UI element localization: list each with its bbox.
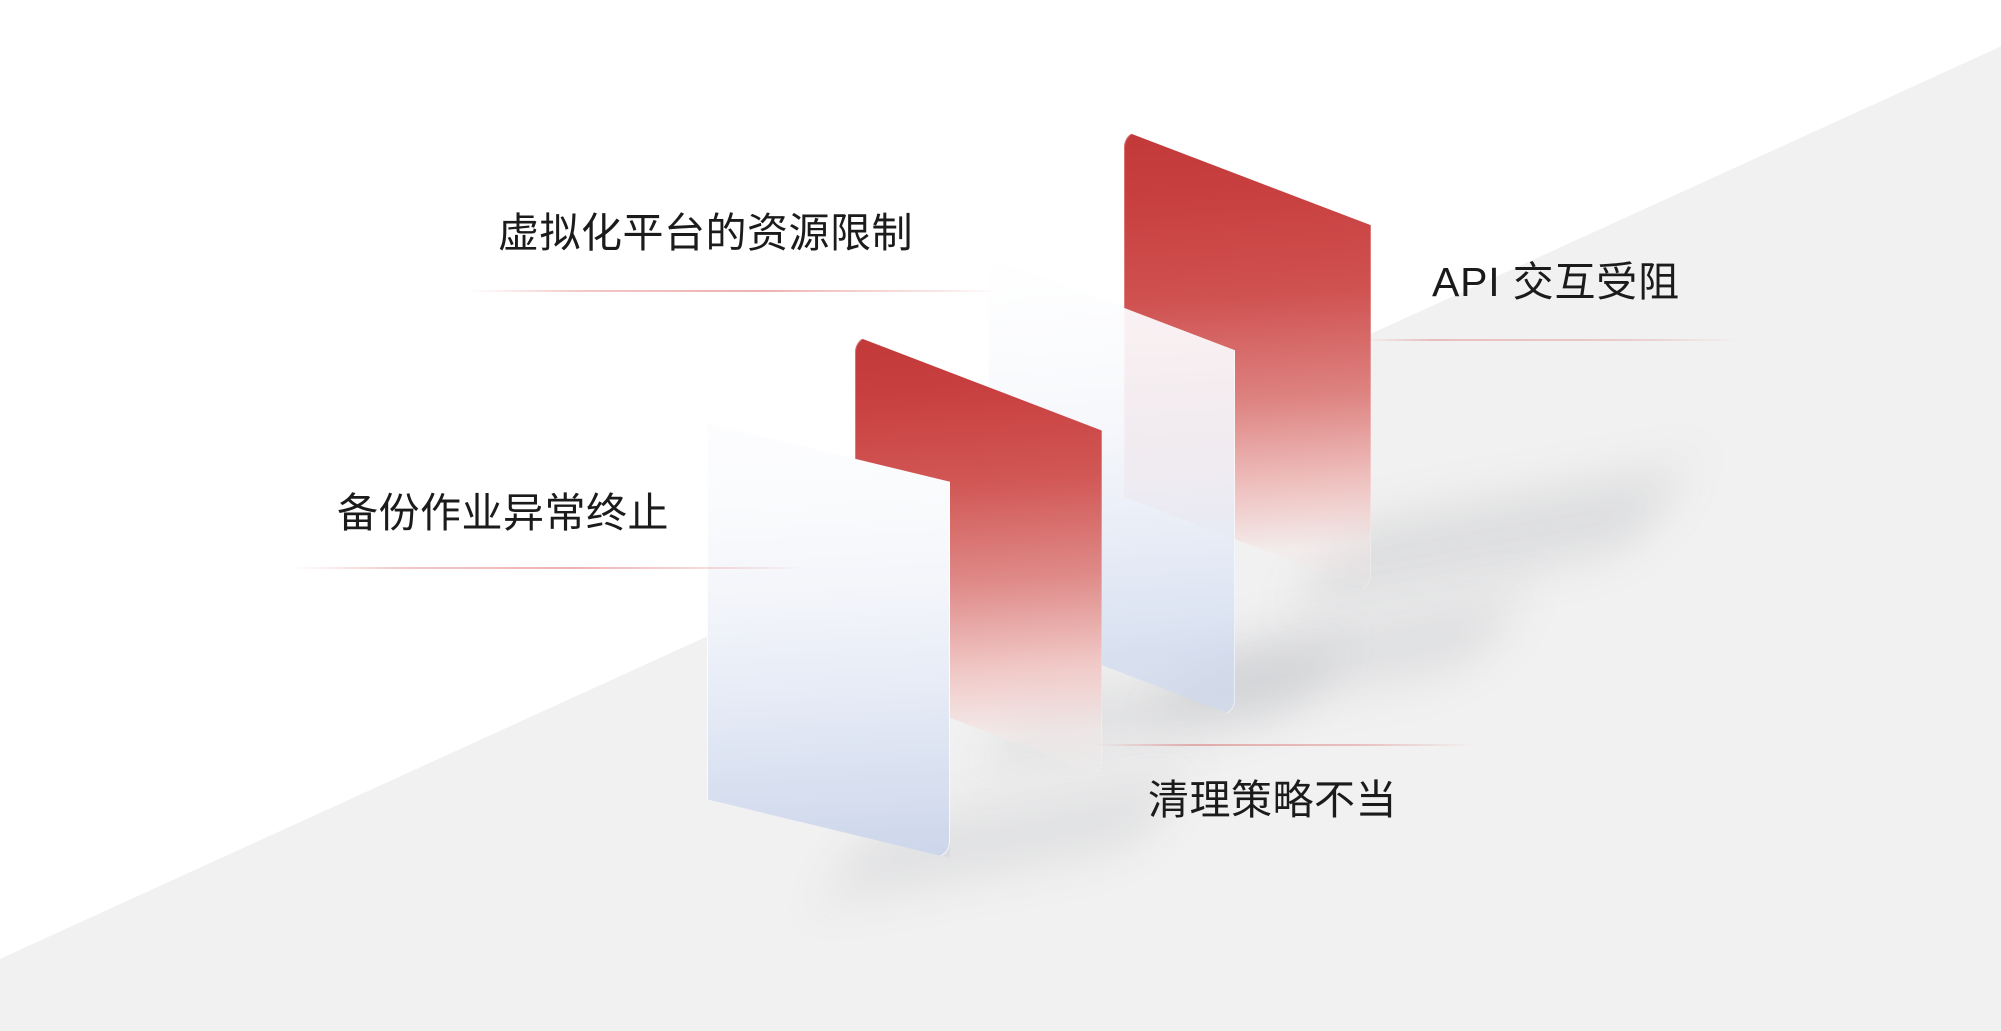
lead-line-virtualization-limit: [468, 290, 998, 292]
label-cleanup-policy: 清理策略不当: [1148, 775, 1397, 826]
label-virtualization-limit: 虚拟化平台的资源限制: [498, 208, 913, 259]
label-backup-abort: 备份作业异常终止: [337, 488, 669, 539]
diagram-canvas: 虚拟化平台的资源限制 API 交互受阻 备份作业异常终止 清理策略不当: [0, 0, 2001, 1031]
card-stack: [0, 0, 2001, 1031]
label-api-blocked: API 交互受阻: [1432, 257, 1680, 308]
lead-line-cleanup-policy: [1095, 744, 1475, 746]
lead-line-backup-abort: [293, 567, 803, 569]
card-1-glass-panel[interactable]: [707, 423, 950, 858]
lead-line-api-blocked: [1365, 339, 1740, 341]
